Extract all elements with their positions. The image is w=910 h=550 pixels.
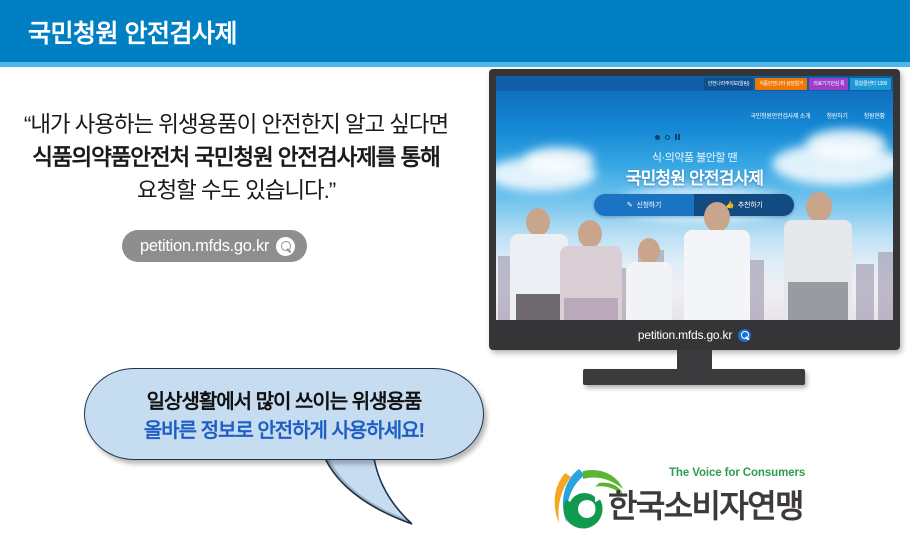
carousel-controls[interactable]	[655, 134, 680, 140]
hero-subtitle: 식·의약품 불안할 땐	[496, 149, 893, 165]
site-tab-2[interactable]: 의료기기안심 톡	[809, 78, 848, 90]
quote-line-2: 식품의약품안전처 국민청원 안전검사제를 통해	[0, 141, 472, 174]
hero-title: 국민청원 안전검사제	[496, 164, 893, 189]
site-tab-list: 안전나라주의보(알림) 식품안전나라 상담알기 의료기기안심 톡 통합콜센터 1…	[704, 78, 891, 90]
url-pill-text: petition.mfds.go.kr	[140, 237, 269, 256]
logo-name: 한국소비자연맹	[608, 481, 803, 527]
tv-stand-base	[583, 369, 805, 385]
tv-illustration: 안전나라주의보(알림) 식품안전나라 상담알기 의료기기안심 톡 통합콜센터 1…	[489, 69, 900, 350]
header-underline-accent	[0, 62, 910, 67]
logo-tagline: The Voice for Consumers	[669, 467, 805, 479]
tv-footer: petition.mfds.go.kr	[489, 320, 900, 350]
site-hero: 국민청원안전검사제 소개 청원하기 청원현황 식·의약품 불안할 땐 국민청원 …	[496, 91, 893, 320]
tv-screen: 안전나라주의보(알림) 식품안전나라 상담알기 의료기기안심 톡 통합콜센터 1…	[496, 76, 893, 320]
site-tab-0[interactable]: 안전나라주의보(알림)	[704, 78, 753, 90]
quote-block: “내가 사용하는 위생용품이 안전한지 알고 싶다면 식품의약품안전처 국민청원…	[0, 108, 472, 207]
family-member-father	[784, 192, 852, 320]
bubble-line-2: 올바른 정보로 안전하게 사용하세요!	[84, 417, 484, 446]
tv-footer-url: petition.mfds.go.kr	[638, 328, 732, 342]
bubble-line-1: 일상생활에서 많이 쓰이는 위생용품	[84, 388, 484, 417]
site-tab-3[interactable]: 통합콜센터 1399	[850, 78, 891, 90]
tv-frame: 안전나라주의보(알림) 식품안전나라 상담알기 의료기기안심 톡 통합콜센터 1…	[489, 69, 900, 350]
site-nav: 국민청원안전검사제 소개 청원하기 청원현황	[750, 111, 885, 120]
family-member-child	[626, 236, 672, 320]
quote-line-3: 요청할 수도 있습니다.”	[0, 174, 472, 207]
carousel-dot-active[interactable]	[655, 135, 660, 140]
apply-button-label: 신청하기	[637, 200, 662, 210]
quote-line-1: “내가 사용하는 위생용품이 안전한지 알고 싶다면	[0, 108, 472, 141]
url-pill[interactable]: petition.mfds.go.kr	[122, 230, 307, 262]
family-member-grandmother	[560, 216, 622, 320]
site-nav-item-1[interactable]: 청원하기	[826, 111, 847, 120]
pen-icon: ✎	[627, 202, 633, 209]
site-tab-1[interactable]: 식품안전나라 상담알기	[755, 78, 807, 90]
site-nav-item-2[interactable]: 청원현황	[864, 111, 885, 120]
speech-bubble-text: 일상생활에서 많이 쓰이는 위생용품 올바른 정보로 안전하게 사용하세요!	[84, 388, 484, 446]
skyline-building	[878, 252, 893, 320]
search-icon	[276, 237, 295, 256]
organization-logo: The Voice for Consumers 한국소비자연맹	[549, 461, 819, 533]
family-member-mother	[684, 202, 750, 320]
speech-bubble: 일상생활에서 많이 쓰이는 위생용품 올바른 정보로 안전하게 사용하세요!	[84, 368, 484, 468]
skyline-building	[856, 264, 874, 320]
site-nav-item-0[interactable]: 국민청원안전검사제 소개	[750, 111, 810, 120]
search-icon	[738, 329, 751, 342]
pause-icon[interactable]	[675, 134, 680, 140]
page-title: 국민청원 안전검사제	[28, 14, 237, 50]
carousel-dot-inactive[interactable]	[665, 135, 670, 140]
apply-button[interactable]: ✎ 신청하기	[594, 194, 694, 216]
